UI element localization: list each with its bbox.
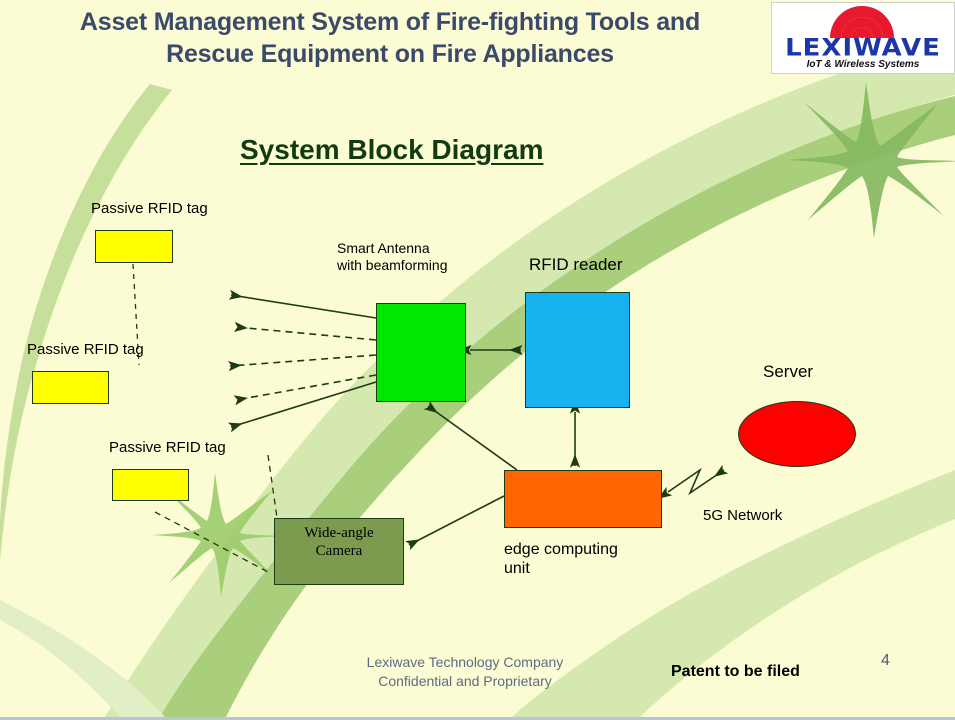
patent-notice: Patent to be filed [671, 663, 800, 681]
passive-rfid-tag-2[interactable] [32, 371, 109, 404]
wide-angle-camera-label: Wide-angle Camera [274, 525, 404, 560]
page-number: 4 [881, 652, 890, 670]
network-label: 5G Network [703, 507, 782, 525]
smart-antenna-label: Smart Antenna with beamforming [337, 240, 448, 273]
server-label: Server [763, 362, 813, 382]
passive-rfid-tag-3-label: Passive RFID tag [109, 439, 226, 457]
rfid-reader-label: RFID reader [529, 255, 623, 275]
edge-computing-unit-block[interactable] [504, 470, 662, 528]
passive-rfid-tag-1[interactable] [95, 230, 173, 263]
passive-rfid-tag-2-label: Passive RFID tag [27, 341, 144, 359]
smart-antenna-block[interactable] [376, 303, 466, 402]
rfid-reader-block[interactable] [525, 292, 630, 408]
server-ellipse[interactable] [738, 401, 856, 467]
passive-rfid-tag-3[interactable] [112, 469, 189, 501]
passive-rfid-tag-1-label: Passive RFID tag [91, 200, 208, 218]
edge-computing-unit-label: edge computing unit [504, 541, 618, 579]
slide-canvas: Asset Management System of Fire-fighting… [0, 0, 955, 720]
confidentiality-notice: Lexiwave Technology Company Confidential… [310, 653, 620, 691]
